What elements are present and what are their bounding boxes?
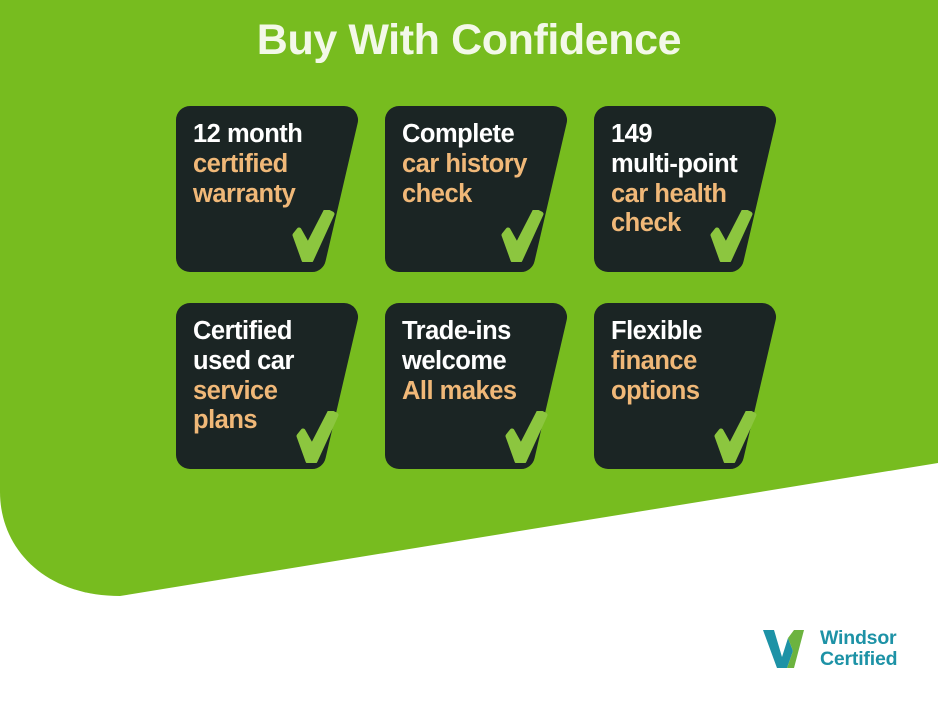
feature-card-certified-warranty: 12 month certified warranty [176, 106, 359, 272]
card-row-bottom: Certified used car service plans Trade-i… [176, 303, 776, 469]
check-mark-icon [295, 411, 339, 463]
feature-card-service-plans: Certified used car service plans [176, 303, 359, 469]
feature-card-grid: 12 month certified warranty Complete car… [176, 106, 776, 469]
logo-line-windsor: Windsor [820, 628, 897, 649]
card-row-top: 12 month certified warranty Complete car… [176, 106, 776, 272]
windsor-certified-logo: Windsor Certified [761, 627, 897, 671]
check-mark-icon [713, 411, 757, 463]
windsor-w-icon [761, 627, 811, 671]
check-mark-icon [291, 210, 335, 262]
feature-card-car-history-check: Complete car history check [385, 106, 568, 272]
logo-line-certified: Certified [820, 649, 897, 670]
feature-card-multi-point-check: 149 multi-point car health check [594, 106, 777, 272]
page-title: Buy With Confidence [0, 16, 938, 65]
check-mark-icon [500, 210, 544, 262]
logo-wordmark: Windsor Certified [820, 628, 897, 669]
feature-card-flexible-finance: Flexible finance options [594, 303, 777, 469]
buy-with-confidence-banner: Buy With Confidence 12 month certified w… [0, 0, 938, 704]
feature-card-trade-ins: Trade-ins welcome All makes [385, 303, 568, 469]
check-mark-icon [709, 210, 753, 262]
check-mark-icon [504, 411, 548, 463]
